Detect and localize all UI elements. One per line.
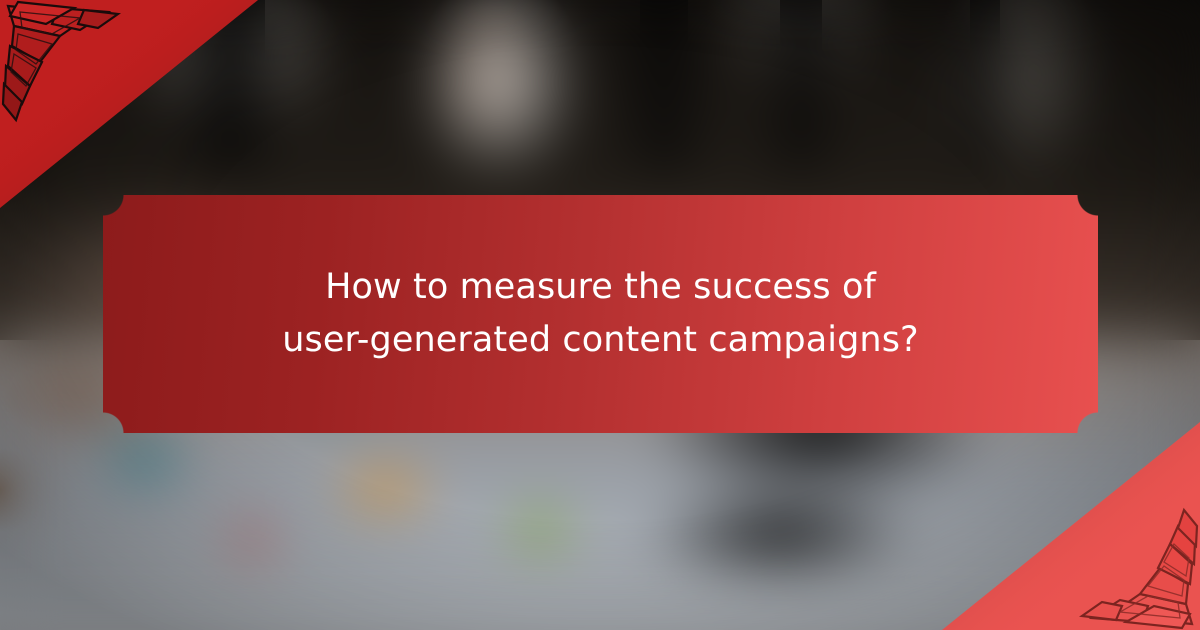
headline-banner: How to measure the success of user-gener… [103,195,1098,433]
page-title-line-1: How to measure the success of [221,261,981,314]
page-title: How to measure the success of user-gener… [221,261,981,367]
page-title-line-2: user-generated content campaigns? [221,314,981,367]
headline-banner-content: How to measure the success of user-gener… [103,195,1098,433]
share-card: How to measure the success of user-gener… [0,0,1200,630]
